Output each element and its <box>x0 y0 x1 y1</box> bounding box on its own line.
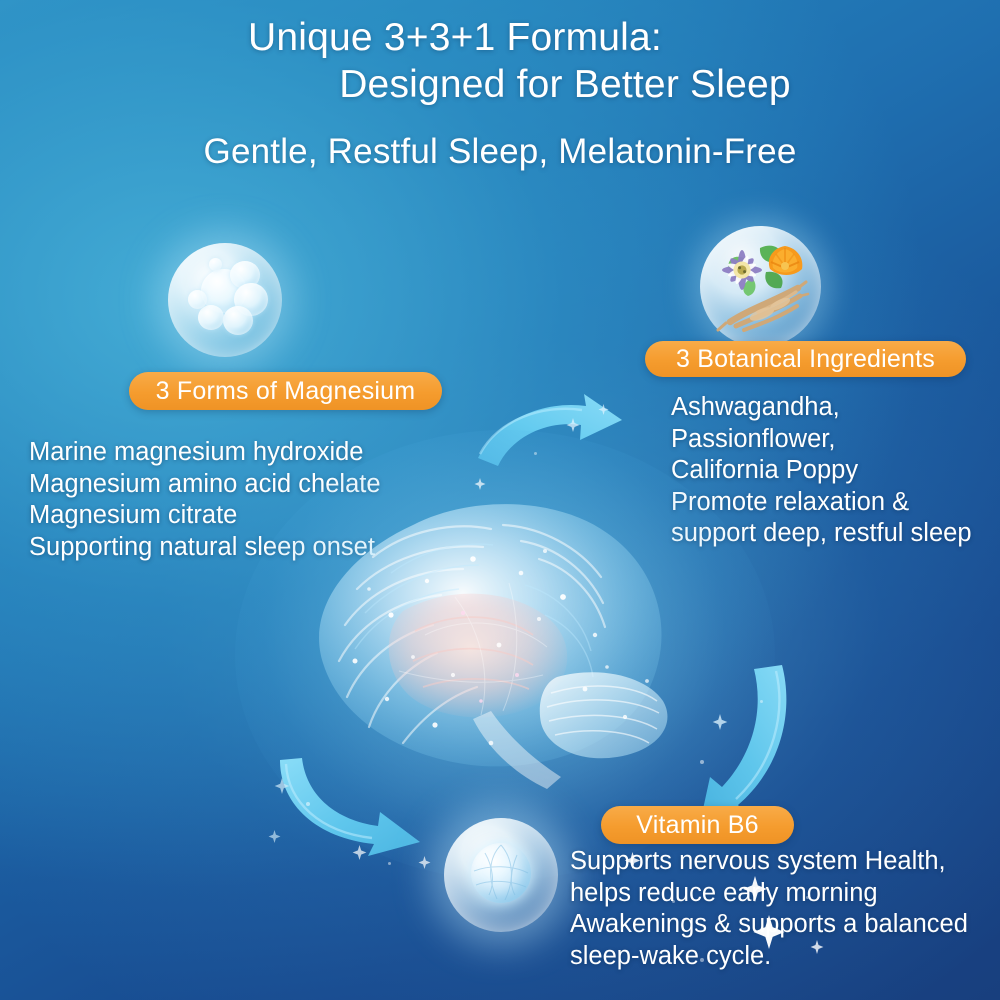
list-item: helps reduce early morning <box>570 878 968 910</box>
badge-vitamin-b6[interactable]: Vitamin B6 <box>601 806 794 844</box>
sparkle-dot <box>700 958 704 962</box>
headline-line-2: Designed for Better Sleep <box>0 61 1000 108</box>
sparkle-star-icon <box>474 478 486 490</box>
sparkle-star-icon <box>712 714 728 730</box>
sparkle-star-icon <box>566 418 580 432</box>
sparkle-star-icon <box>742 876 768 902</box>
badge-magnesium[interactable]: 3 Forms of Magnesium <box>129 372 442 410</box>
sparkle-dot <box>534 452 537 455</box>
sparkle-dot <box>388 862 391 865</box>
product-infographic: Unique 3+3+1 Formula: Designed for Bette… <box>0 0 1000 1000</box>
botanical-illustration-icon <box>700 226 821 347</box>
arrow-curve-down-icon <box>686 655 826 830</box>
sparkle-star-icon <box>352 845 367 860</box>
sparkle-dot <box>672 900 675 903</box>
list-item: Ashwagandha, <box>671 392 972 424</box>
list-item: Promote relaxation & <box>671 487 972 519</box>
crystal-core <box>471 843 531 903</box>
sparkle-star-icon <box>268 830 281 843</box>
crystal-sphere-icon <box>444 818 558 932</box>
headline-line-1: Unique 3+3+1 Formula: <box>0 14 1000 61</box>
subheadline: Gentle, Restful Sleep, Melatonin-Free <box>0 130 1000 174</box>
sparkle-dot <box>806 896 809 899</box>
sparkle-star-icon <box>810 940 824 954</box>
sparkle-dot <box>306 802 310 806</box>
badge-botanical[interactable]: 3 Botanical Ingredients <box>645 341 966 377</box>
page-title: Unique 3+3+1 Formula: Designed for Bette… <box>0 14 1000 108</box>
sparkle-star-icon <box>752 915 786 949</box>
sparkle-dot <box>760 700 763 703</box>
botanical-flowers-sphere-icon <box>700 226 821 347</box>
sparkle-star-icon <box>274 778 290 794</box>
magnesium-bubble-sphere-icon <box>168 243 282 357</box>
sparkle-dot <box>700 760 704 764</box>
list-item: Marine magnesium hydroxide <box>29 437 381 469</box>
list-item: Passionflower, <box>671 424 972 456</box>
list-item: California Poppy <box>671 455 972 487</box>
sparkle-star-icon <box>598 404 609 415</box>
sparkle-star-icon <box>418 856 431 869</box>
sparkle-star-icon <box>624 852 641 869</box>
